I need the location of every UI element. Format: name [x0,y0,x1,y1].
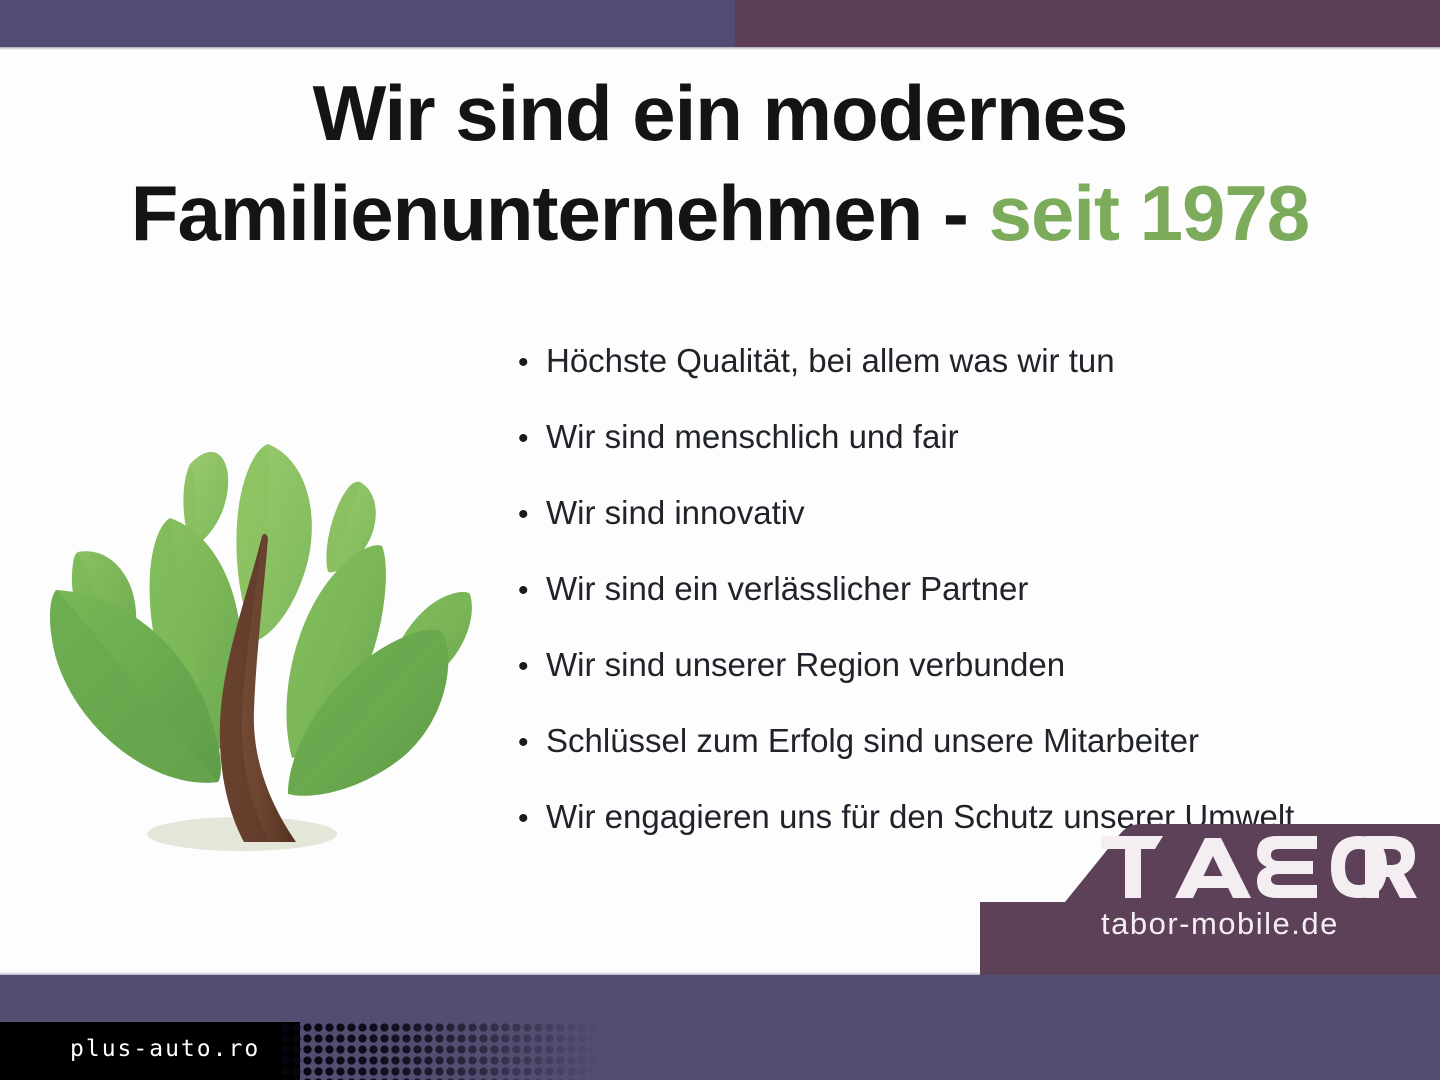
list-item: • Wir sind menschlich und fair [512,420,1432,496]
tree-icon [30,368,500,863]
list-item: • Wir sind unserer Region verbunden [512,648,1432,724]
brand-logo-panel: tabor-mobile.de [980,812,1440,975]
top-decorative-band [0,0,1440,47]
headline-line-2-prefix: Familienunternehmen - [131,169,989,257]
list-item-label: Wir sind unserer Region verbunden [546,648,1065,681]
list-item-label: Wir sind menschlich und fair [546,420,959,453]
list-item: • Wir sind innovativ [512,496,1432,572]
list-item-label: Schlüssel zum Erfolg sind unsere Mitarbe… [546,724,1199,757]
bullet-marker-icon: • [512,652,546,682]
top-band-left-segment [0,0,735,47]
tree-illustration [30,368,500,863]
list-item-label: Höchste Qualität, bei allem was wir tun [546,344,1115,377]
bullet-marker-icon: • [512,348,546,378]
list-item: • Höchste Qualität, bei allem was wir tu… [512,344,1432,420]
watermark-bar: plus-auto.ro [0,1022,1440,1080]
bullet-marker-icon: • [512,576,546,606]
top-band-hairline [0,47,1440,50]
bullet-marker-icon: • [512,804,546,834]
page-title: Wir sind ein modernes Familienunternehme… [0,64,1440,264]
value-bullet-list: • Höchste Qualität, bei allem was wir tu… [512,344,1432,876]
headline-line-1: Wir sind ein modernes [0,64,1440,164]
list-item: • Wir sind ein verlässlicher Partner [512,572,1432,648]
list-item-label: Wir sind innovativ [546,496,805,529]
headline-accent-year: seit 1978 [989,169,1310,257]
bullet-marker-icon: • [512,500,546,530]
list-item: • Schlüssel zum Erfolg sind unsere Mitar… [512,724,1432,800]
logo-panel-shape [980,812,1440,975]
headline-line-2: Familienunternehmen - seit 1978 [0,164,1440,264]
bullet-marker-icon: • [512,424,546,454]
bullet-marker-icon: • [512,728,546,758]
watermark-halftone-pattern [280,1022,600,1080]
watermark-label: plus-auto.ro [70,1038,260,1061]
slide-canvas: Wir sind ein modernes Familienunternehme… [0,0,1440,1080]
list-item-label: Wir sind ein verlässlicher Partner [546,572,1028,605]
top-band-right-segment [735,0,1440,47]
